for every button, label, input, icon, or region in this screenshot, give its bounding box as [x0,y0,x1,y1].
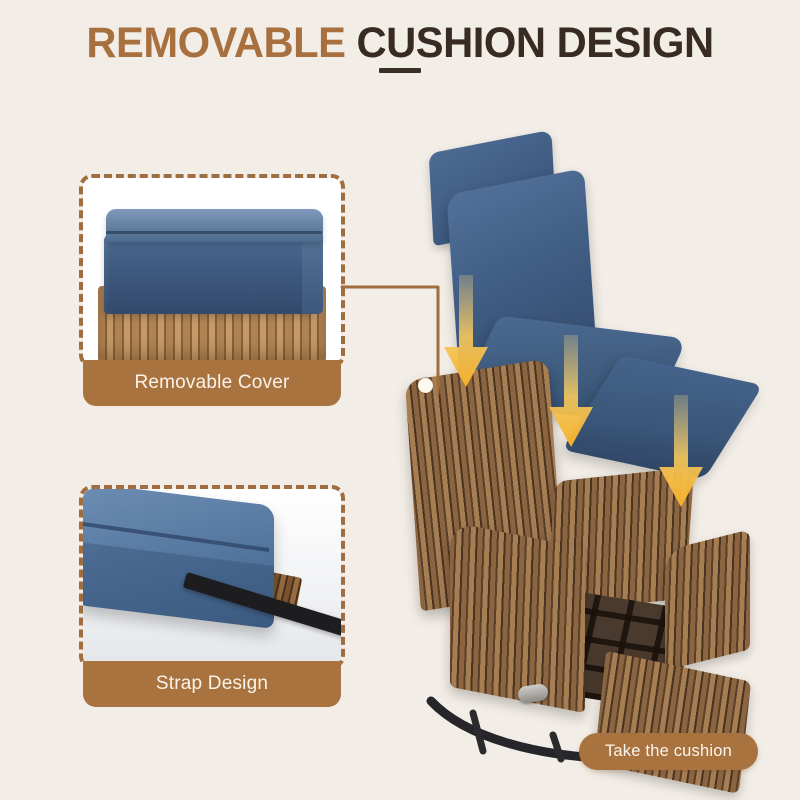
chair-left-armrest [450,522,585,713]
down-arrow-icon-1 [443,275,489,390]
panel-removable-cover-photo [83,178,341,364]
down-arrow-icon-3 [658,395,704,510]
panel-removable-cover-label-text: Removable Cover [134,372,289,394]
cushion-top-illustration [106,209,323,242]
infographic-canvas: REMOVABLE CUSHION DESIGN Removable Cover… [0,0,800,800]
page-title: REMOVABLE CUSHION DESIGN [0,22,800,65]
cushion-body-illustration [104,234,313,314]
connector-endpoint-dot [418,378,433,393]
cushion-seam-illustration [106,231,321,234]
panel-strap-design-label: Strap Design [83,661,341,707]
take-the-cushion-label: Take the cushion [605,742,732,760]
title-divider-dash [379,68,421,73]
chair-right-armrest [665,529,750,670]
title-part-cushion-design: CUSHION DESIGN [357,19,714,67]
panel-strap-design-photo [83,489,341,665]
panel-removable-cover-label: Removable Cover [83,360,341,406]
down-arrow-icon-2 [548,335,594,450]
main-illustration [400,120,800,740]
take-the-cushion-button[interactable]: Take the cushion [579,733,758,770]
title-part-removable: REMOVABLE [86,19,345,67]
panel-strap-design-label-text: Strap Design [156,673,268,695]
